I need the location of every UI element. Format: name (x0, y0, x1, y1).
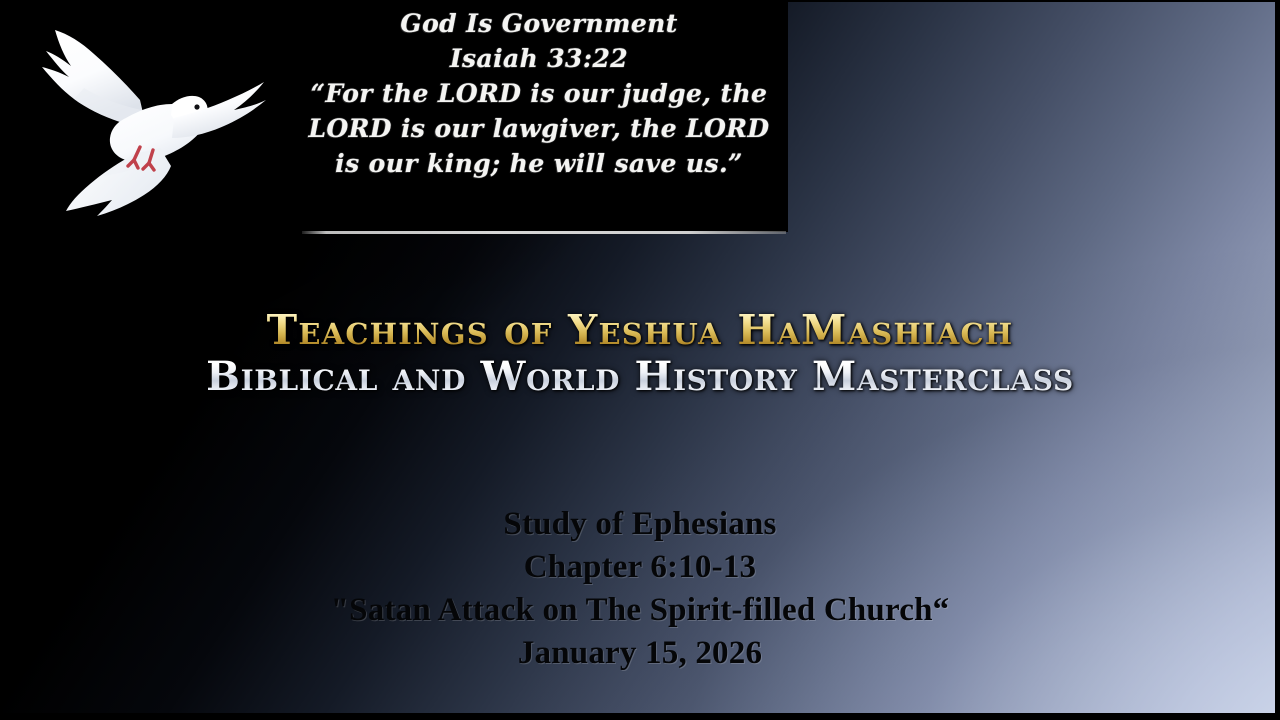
lesson-book: Study of Ephesians (0, 503, 1280, 546)
scripture-heading: God Is Government (290, 6, 788, 41)
dove-icon (14, 14, 266, 219)
scripture-text: God Is Government Isaiah 33:22 “For the … (290, 6, 788, 181)
title-line-primary: Teachings of Yeshua HaMashiach (0, 306, 1280, 354)
scripture-quote-line-2: LORD is our lawgiver, the LORD (290, 111, 788, 146)
scripture-divider-rule (302, 231, 786, 234)
scripture-quote-line-1: “For the LORD is our judge, the (290, 76, 788, 111)
dove-upper-wing (42, 30, 146, 126)
lesson-chapter: Chapter 6:10-13 (0, 546, 1280, 589)
title-line-secondary: Biblical and World History Masterclass (0, 354, 1280, 400)
scripture-quote-line-3: is our king; he will save us.” (290, 146, 788, 181)
scripture-reference: Isaiah 33:22 (290, 41, 788, 76)
masterclass-title: Teachings of Yeshua HaMashiach Biblical … (0, 306, 1280, 400)
lesson-topic: "Satan Attack on The Spirit-filled Churc… (0, 589, 1280, 632)
dove-lower-wing (66, 148, 171, 216)
lesson-details: Study of Ephesians Chapter 6:10-13 "Sata… (0, 503, 1280, 675)
dove-eye (194, 104, 199, 109)
title-slide: God Is Government Isaiah 33:22 “For the … (0, 0, 1280, 720)
lesson-date: January 15, 2026 (0, 632, 1280, 675)
